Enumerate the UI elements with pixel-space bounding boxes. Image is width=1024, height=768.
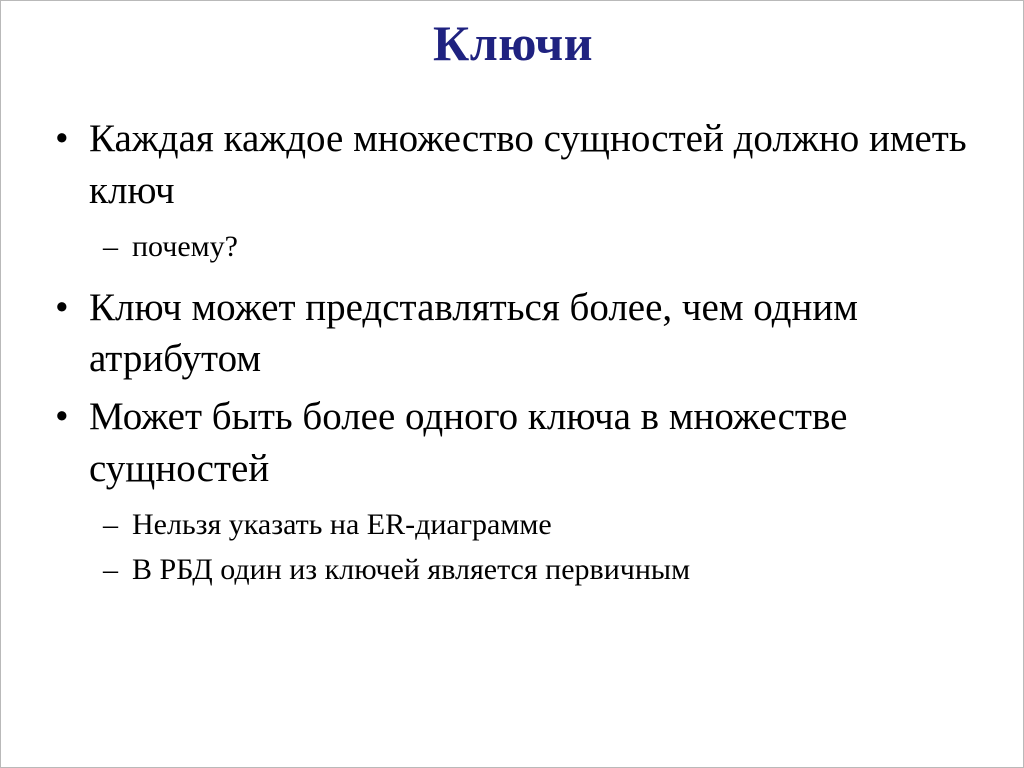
slide-body-content: • Каждая каждое множество сущностей долж…	[47, 113, 999, 595]
bullet-dash-icon: –	[103, 505, 118, 546]
bullet-item-level1: • Ключ может представляться более, чем о…	[47, 282, 999, 386]
presentation-slide: Ключи • Каждая каждое множество сущносте…	[0, 0, 1024, 768]
bullet-item-level2: – В РБД один из ключей является первичны…	[47, 550, 999, 591]
bullet-text: Каждая каждое множество сущностей должно…	[89, 117, 967, 212]
bullet-dash-icon: –	[103, 550, 118, 591]
page-title: Ключи	[1, 15, 1024, 71]
bullet-dot-icon: •	[55, 113, 69, 165]
bullet-text: почему?	[132, 230, 238, 263]
bullet-item-level1: • Каждая каждое множество сущностей долж…	[47, 113, 999, 217]
bullet-dot-icon: •	[55, 391, 69, 443]
bullet-item-level2: – Нельзя указать на ER-диаграмме	[47, 505, 999, 546]
bullet-text: Ключ может представляться более, чем одн…	[89, 286, 858, 381]
bullet-dash-icon: –	[103, 227, 118, 268]
bullet-text: Нельзя указать на ER-диаграмме	[132, 508, 552, 541]
bullet-item-level1: • Может быть более одного ключа в множес…	[47, 391, 999, 495]
bullet-text: Может быть более одного ключа в множеств…	[89, 395, 847, 490]
bullet-item-level2: – почему?	[47, 227, 999, 268]
bullet-text: В РБД один из ключей является первичным	[132, 553, 690, 586]
bullet-dot-icon: •	[55, 282, 69, 334]
